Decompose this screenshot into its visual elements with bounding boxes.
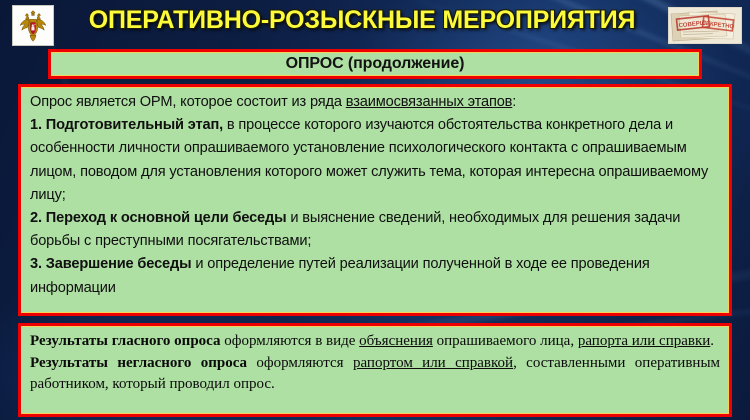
intro-after: : xyxy=(512,94,516,110)
covert-survey-label: Результаты негласного опроса xyxy=(30,355,247,371)
subtitle-text: ОПРОС (продолжение) xyxy=(286,55,465,73)
intro-underlined-term: взаимосвязанных этапов xyxy=(346,94,513,110)
open-survey-term-report: рапорта или справки xyxy=(578,333,710,349)
covert-survey-term-report: рапортом или справкой xyxy=(353,355,513,371)
top-secret-stamp-icon: СОВЕРШ. СЕКРЕТНО xyxy=(668,7,742,44)
main-content-box: Опрос является ОРМ, которое состоит из р… xyxy=(18,84,732,316)
stage-1-label: 1. Подготовительный этап, xyxy=(30,117,223,133)
footer-content-box: Результаты гласного опроса оформляются в… xyxy=(18,323,732,417)
page-title: ОПЕРАТИВНО-РОЗЫСКНЫЕ МЕРОПРИЯТИЯ xyxy=(62,6,662,35)
open-survey-text-a: оформляются в виде xyxy=(221,333,360,349)
presentation-slide: ОПЕРАТИВНО-РОЗЫСКНЫЕ МЕРОПРИЯТИЯ СОВЕРШ.… xyxy=(0,0,750,420)
russian-coat-of-arms-icon xyxy=(12,5,54,46)
intro-before: Опрос является ОРМ, которое состоит из р… xyxy=(30,94,346,110)
footer-paragraph-open-survey: Результаты гласного опроса оформляются в… xyxy=(30,331,720,353)
open-survey-text-c: . xyxy=(710,333,714,349)
footer-paragraph-covert-survey: Результаты негласного опроса оформляются… xyxy=(30,353,720,396)
stage-2-label: 2. Переход к основной цели беседы xyxy=(30,210,286,226)
open-survey-label: Результаты гласного опроса xyxy=(30,333,221,349)
subtitle-banner: ОПРОС (продолжение) xyxy=(48,49,702,79)
slide-header: ОПЕРАТИВНО-РОЗЫСКНЫЕ МЕРОПРИЯТИЯ СОВЕРШ.… xyxy=(0,0,750,48)
open-survey-text-b: опрашиваемого лица, xyxy=(433,333,578,349)
stage-3-label: 3. Завершение беседы xyxy=(30,256,191,272)
open-survey-term-explanation: объяснения xyxy=(359,333,433,349)
covert-survey-text-a: оформляются xyxy=(247,355,353,371)
main-body-text: Опрос является ОРМ, которое состоит из р… xyxy=(30,91,721,300)
